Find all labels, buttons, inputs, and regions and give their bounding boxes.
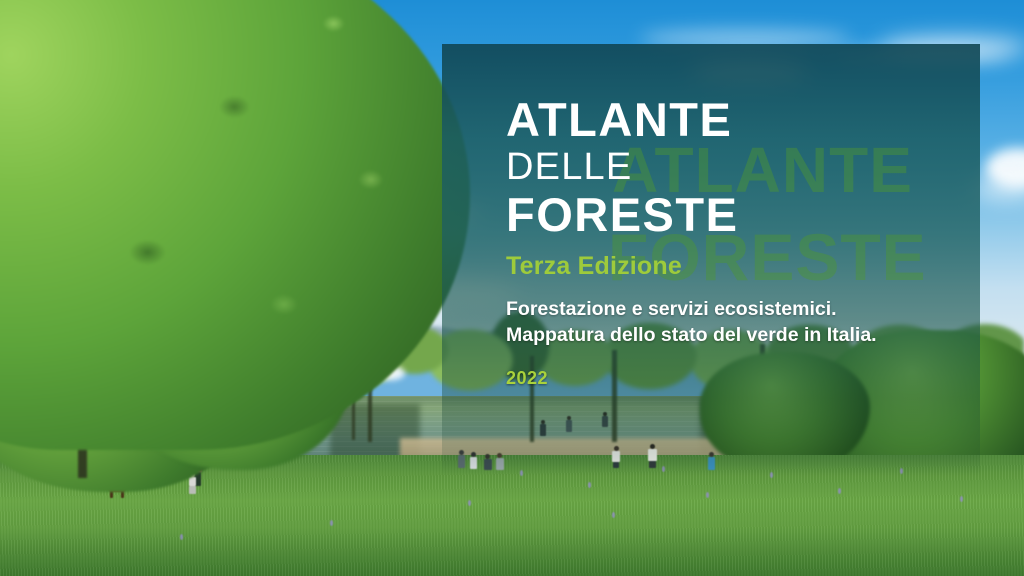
person-figure — [602, 412, 608, 427]
edition-label: Terza Edizione — [506, 253, 976, 281]
cover-image: ATLANTE FORESTE ATLANTE DELLE FORESTE Te… — [0, 0, 1024, 576]
wildflower — [588, 482, 591, 488]
person-figure — [540, 420, 546, 436]
subtitle-line-1: Forestazione e servizi ecosistemici. — [506, 298, 837, 320]
wildflower — [770, 472, 773, 478]
wildflower — [520, 470, 523, 476]
subtitle-line-2: Mappatura dello stato del verde in Itali… — [506, 324, 877, 346]
person-figure — [648, 444, 657, 468]
wildflower — [612, 512, 615, 518]
wildflower — [900, 468, 903, 474]
person-figure — [612, 446, 620, 468]
title-line-atlante: ATLANTE — [506, 96, 976, 144]
person-figure — [496, 453, 504, 470]
wildflower — [960, 496, 963, 502]
cloud-1 — [690, 58, 810, 84]
wildflower — [706, 492, 709, 498]
wildflower — [662, 466, 665, 472]
cloud-wisp-1 — [640, 30, 850, 48]
person-figure — [566, 416, 572, 432]
cover-text-block: ATLANTE DELLE FORESTE Terza Edizione For… — [506, 96, 976, 389]
title-line-foreste: FORESTE — [506, 191, 976, 239]
cloud-2 — [880, 36, 1024, 58]
title-line-delle: DELLE — [506, 146, 976, 189]
year-label: 2022 — [506, 368, 976, 389]
wildflower — [180, 534, 183, 540]
wildflower — [838, 488, 841, 494]
wildflower — [330, 520, 333, 526]
subtitle: Forestazione e servizi ecosistemici. Map… — [506, 297, 976, 348]
person-figure — [708, 452, 715, 470]
person-figure — [484, 454, 492, 470]
wildflower — [468, 500, 471, 506]
person-figure — [470, 452, 477, 469]
person-figure — [458, 450, 465, 468]
